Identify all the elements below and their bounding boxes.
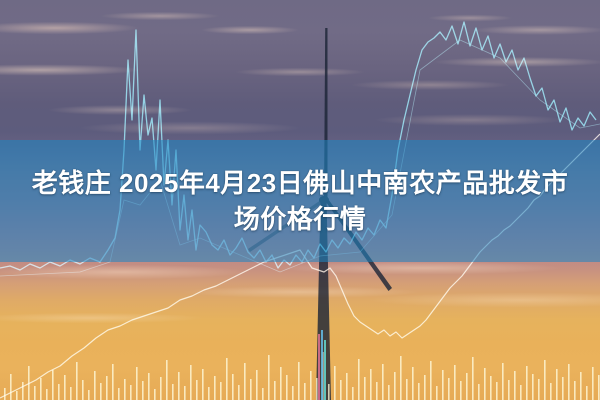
headline-line-2: 场价格行情	[234, 202, 367, 236]
headline-text-block: 老钱庄 2025年4月23日佛山中南农产品批发市 场价格行情	[0, 140, 600, 262]
volume-marker-bars	[318, 330, 326, 400]
thumbnail-graphic: 老钱庄 2025年4月23日佛山中南农产品批发市 场价格行情	[0, 0, 600, 400]
headline-line-1: 老钱庄 2025年4月23日佛山中南农产品批发市	[32, 166, 568, 200]
volume-bar-group	[4, 352, 600, 400]
